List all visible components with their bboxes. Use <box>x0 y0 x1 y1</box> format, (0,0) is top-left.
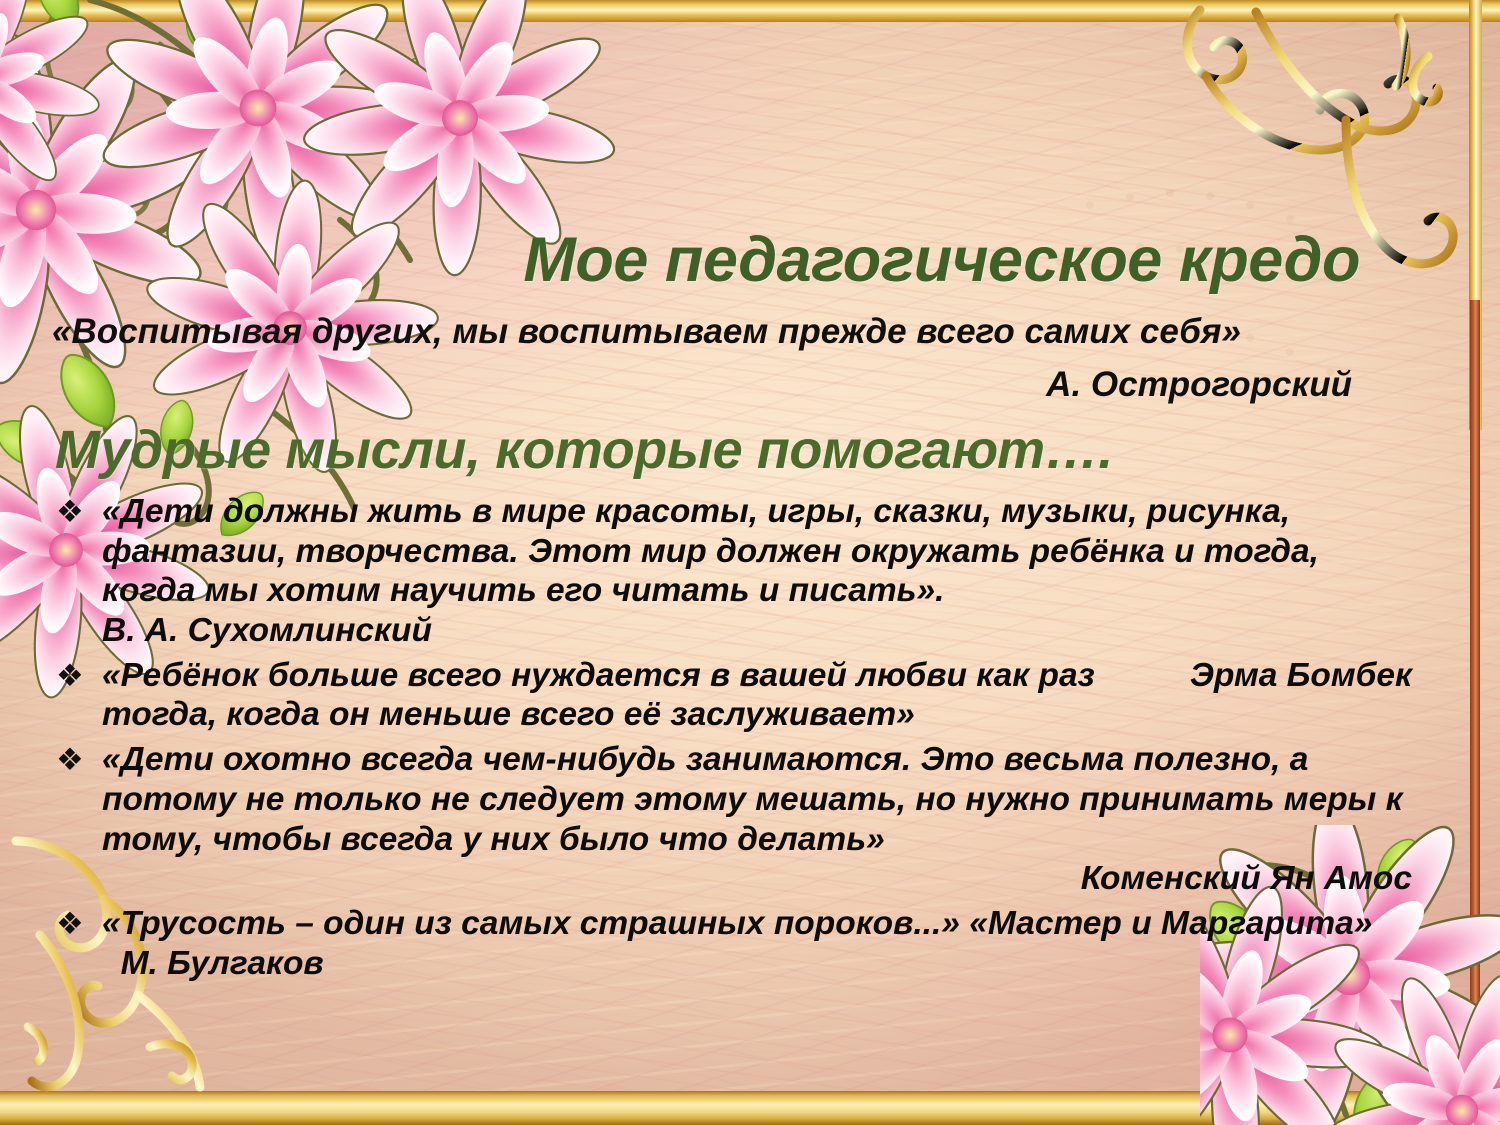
quote-text: «Ребёнок больше всего нуждается в вашей … <box>102 657 1095 734</box>
quote-author: Коменский Ян Амос <box>102 859 1412 899</box>
list-item: ❖ Эрма Бомбек «Ребёнок больше всего нужд… <box>52 656 1412 735</box>
bullet-diamond-icon: ❖ <box>56 657 84 694</box>
frame-bottom-bar <box>0 1091 1500 1125</box>
quote-author: М. Булгаков <box>102 945 324 982</box>
list-item: ❖ «Дети охотно всегда чем-нибудь занимаю… <box>52 740 1412 899</box>
quote-list: ❖ «Дети должны жить в мире красоты, игры… <box>52 492 1412 988</box>
quote-text: «Дети должны жить в мире красоты, игры, … <box>102 492 1412 611</box>
section-subtitle: Мудрые мысли, которые помогают…. <box>55 423 1255 478</box>
list-item: ❖ «Дети должны жить в мире красоты, игры… <box>52 492 1412 651</box>
slide-canvas: Мое педагогическое кредо «Воспитывая дру… <box>0 0 1500 1125</box>
bullet-diamond-icon: ❖ <box>56 905 84 942</box>
quote-author-name: М. Булгаков <box>121 945 324 982</box>
bullet-diamond-icon: ❖ <box>56 493 84 530</box>
epigraph-author: А. Острогорский <box>52 365 1352 404</box>
quote-text: «Трусость – один из самых страшных порок… <box>102 905 1372 942</box>
quote-text: «Дети охотно всегда чем-нибудь занимаютс… <box>102 740 1412 859</box>
quote-author: Эрма Бомбек <box>1190 656 1412 696</box>
frame-top-bar <box>0 0 1500 22</box>
quote-author: В. А. Сухомлинский <box>102 611 1412 651</box>
bullet-diamond-icon: ❖ <box>56 741 84 778</box>
page-title: Мое педагогическое кредо <box>400 228 1360 292</box>
list-item: ❖ «Трусость – один из самых страшных пор… <box>52 904 1412 983</box>
epigraph-quote: «Воспитывая других, мы воспитываем прежд… <box>52 312 1342 351</box>
frame-right-brown-bar <box>1470 300 1480 1060</box>
